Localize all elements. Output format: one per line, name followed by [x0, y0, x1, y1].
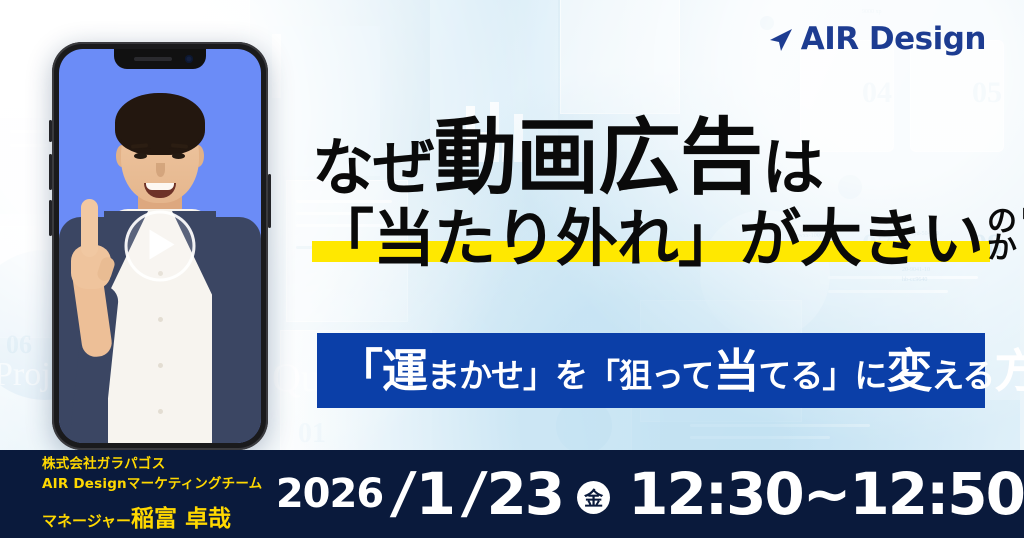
headline-l1-pre: なぜ	[312, 138, 434, 198]
triangle-arrow-icon	[768, 27, 794, 53]
headline-line-2: 「当たり外れ」 が 大きい の か ?	[312, 202, 1024, 269]
sub-i: え	[931, 356, 962, 395]
headline-question-mark: ?	[1018, 202, 1024, 269]
headline-line-1: なぜ 動画広告 は	[312, 118, 1024, 198]
event-time: 12:30~12:50	[628, 465, 1024, 523]
stack-bottom: か	[987, 236, 1017, 262]
phone-screen	[59, 49, 261, 443]
date-slash-1: /	[389, 466, 417, 522]
weekday-badge: 金	[577, 481, 610, 514]
webinar-banner: 04 05 07 08 01 06 Qual nd Project Yewxx-…	[0, 0, 1024, 538]
speaker-name: 稲富 卓哉	[131, 506, 231, 532]
air-design-logo[interactable]: AIR Design	[768, 24, 986, 55]
sub-k: 方法	[994, 344, 1024, 398]
date-slash-2: /	[460, 466, 488, 522]
speaker-team: AIR Designマーケティングチーム	[42, 475, 276, 495]
sub-b: まかせ	[427, 356, 523, 395]
event-year: 2026	[276, 474, 383, 514]
phone-mockup	[52, 42, 268, 450]
headline-l1-post: は	[762, 138, 823, 198]
play-button[interactable]	[125, 211, 196, 282]
sub-h: 変	[886, 344, 931, 398]
subtitle-bar: 「運まかせ」を「狙って当てる」に変える方法	[317, 333, 985, 408]
headline-l2-b: が	[739, 209, 800, 269]
headline: なぜ 動画広告 は 「当たり外れ」 が 大きい の か ?	[312, 118, 1024, 268]
sub-c: 」を「狙	[523, 356, 651, 395]
sub-e: 当	[713, 344, 758, 398]
headline-l2-c: 大きい	[800, 209, 983, 269]
sub-g: 」に	[822, 356, 886, 395]
headline-l2-a: 「当たり外れ」	[312, 209, 739, 269]
speaker-company: 株式会社ガラパゴス	[42, 455, 276, 475]
sub-f: てる	[758, 356, 822, 395]
event-datetime: 2026 / 1 / 23 金 12:30~12:50	[276, 465, 1024, 523]
logo-wordmark: AIR Design	[801, 24, 986, 55]
front-camera-icon	[185, 55, 193, 63]
sub-j: る	[962, 356, 994, 395]
subtitle-text: 「運まかせ」を「狙って当てる」に変える方法	[317, 348, 1024, 394]
speaker-name-row: マネージャー稲富 卓哉	[42, 499, 276, 533]
headline-stacked-chars: の か	[987, 209, 1017, 262]
headline-l1-main: 動画広告	[434, 118, 762, 198]
play-triangle-icon	[150, 230, 175, 260]
speaker-info: 株式会社ガラパゴス AIR Designマーケティングチーム マネージャー稲富 …	[0, 455, 276, 533]
sub-d: って	[651, 356, 713, 395]
bottom-bar: 株式会社ガラパゴス AIR Designマーケティングチーム マネージャー稲富 …	[0, 450, 1024, 538]
event-month: 1	[416, 465, 454, 523]
phone-notch	[114, 49, 206, 69]
event-day: 23	[486, 465, 563, 523]
sub-a: 「運	[337, 344, 427, 398]
speaker-role: マネージャー	[42, 512, 131, 530]
